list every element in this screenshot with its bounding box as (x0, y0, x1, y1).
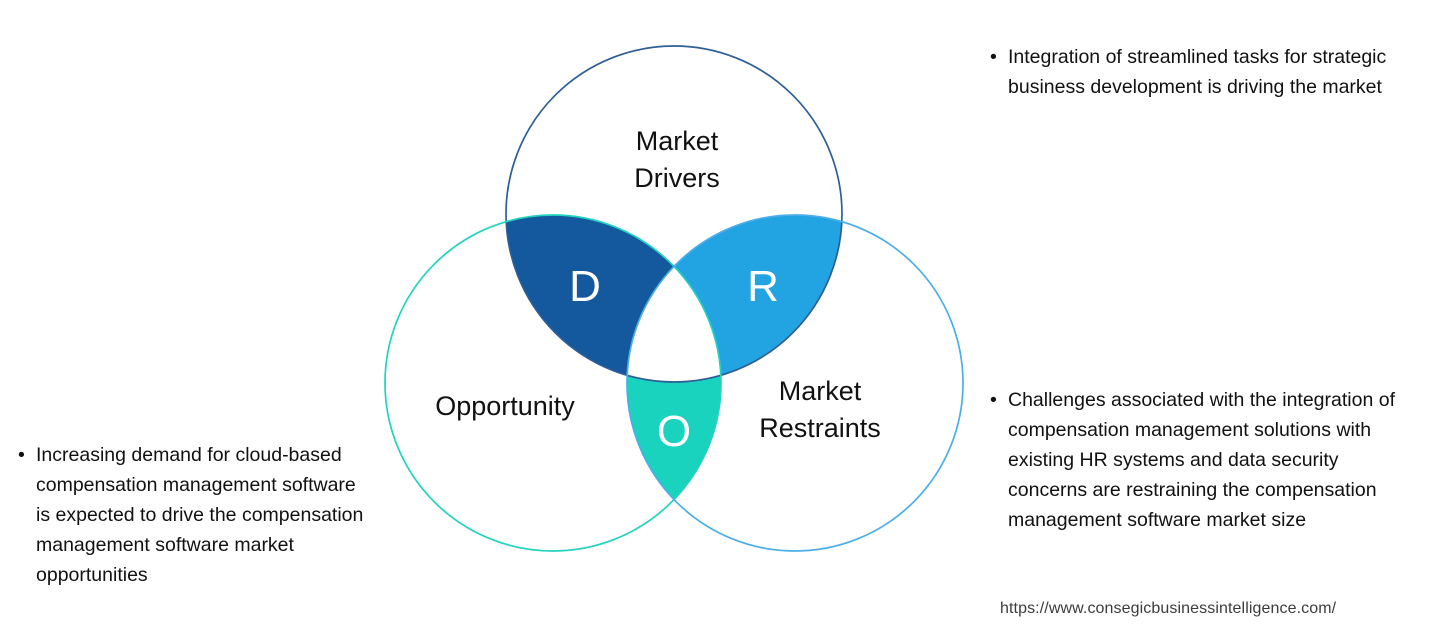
label-market-restraints-line2: Restraints (759, 413, 881, 443)
label-market-drivers-line2: Drivers (634, 163, 720, 193)
bullet-icon: • (990, 385, 1008, 415)
callout-opportunity: • Increasing demand for cloud-based comp… (18, 440, 373, 590)
venn-diagram-page: Market Drivers Opportunity Market Restra… (0, 0, 1453, 643)
callout-market-restraints: • Challenges associated with the integra… (990, 385, 1420, 535)
venn-diagram: Market Drivers Opportunity Market Restra… (370, 20, 990, 580)
bullet-icon: • (990, 42, 1008, 72)
label-opportunity: Opportunity (435, 391, 575, 421)
bullet-icon: • (18, 440, 36, 470)
callout-opportunity-text: Increasing demand for cloud-based compen… (36, 440, 373, 590)
lens-letter-r: R (747, 262, 779, 311)
source-url[interactable]: https://www.consegicbusinessintelligence… (1000, 598, 1336, 620)
label-market-restraints-line1: Market (779, 376, 862, 406)
label-market-drivers-line1: Market (636, 126, 719, 156)
venn-svg: Market Drivers Opportunity Market Restra… (370, 20, 990, 580)
callout-market-drivers-text: Integration of streamlined tasks for str… (1008, 42, 1420, 102)
lens-letter-d: D (569, 262, 601, 311)
callout-market-restraints-text: Challenges associated with the integrati… (1008, 385, 1420, 535)
lens-letter-o: O (657, 407, 691, 456)
callout-market-drivers: • Integration of streamlined tasks for s… (990, 42, 1420, 102)
